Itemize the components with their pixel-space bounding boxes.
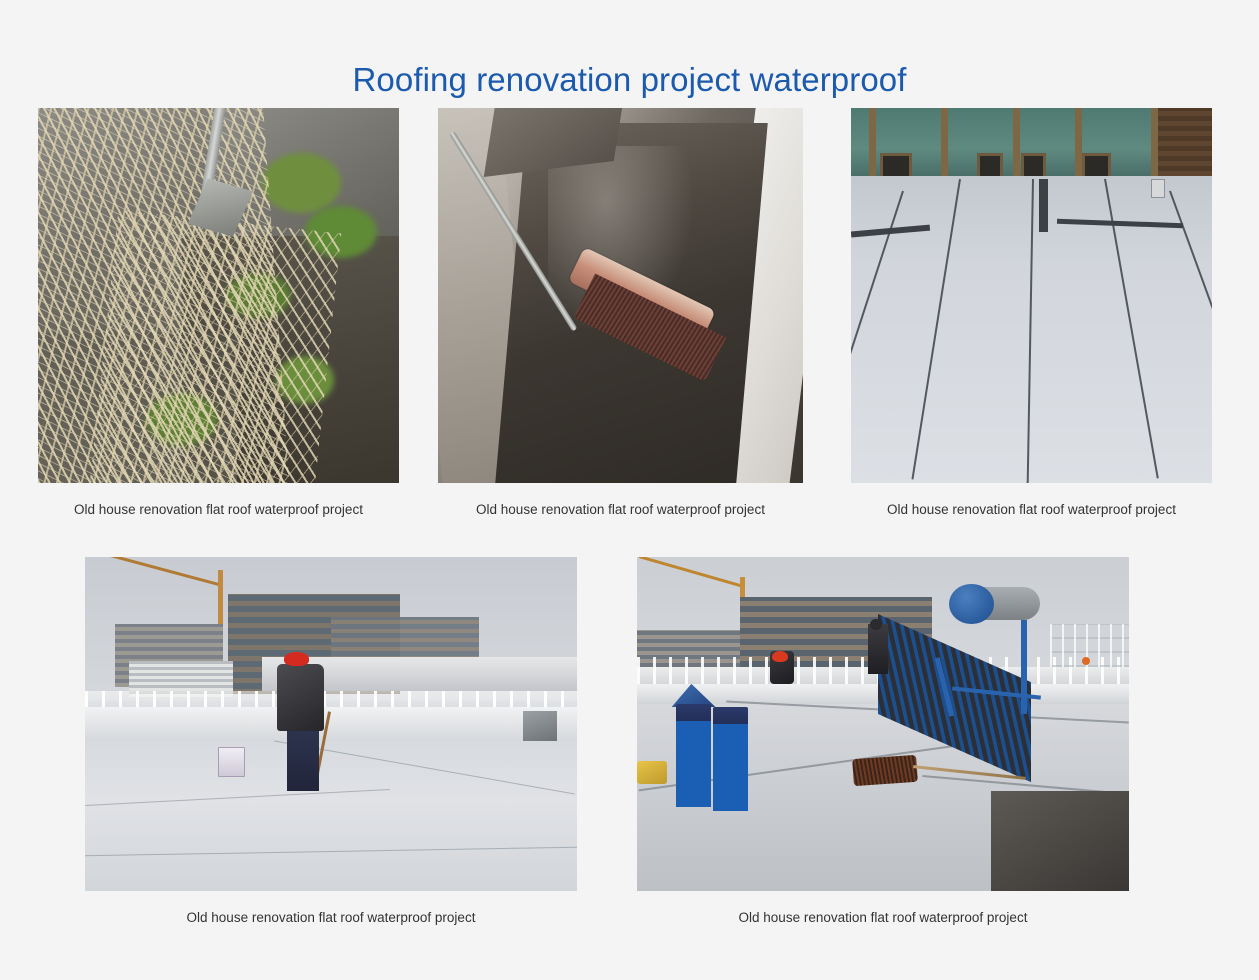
- photo-object-rooftop-unit: [523, 711, 557, 741]
- photo-object-coating-pail: [218, 747, 245, 777]
- gallery-item-caption: Old house renovation flat roof waterproo…: [887, 501, 1176, 519]
- photo-worker-applying-coating[interactable]: [85, 557, 577, 891]
- photo-object-red-helmet: [772, 651, 788, 663]
- page-title: Roofing renovation project waterproof: [0, 58, 1259, 102]
- photo-region-dry-grass: [89, 210, 341, 483]
- photo-region-uncoated-roof-edge: [991, 791, 1129, 891]
- photo-object-canopy-post: [869, 108, 876, 183]
- photo-roof-clearing-weeds[interactable]: [38, 108, 399, 483]
- photo-object-scaffold: [1050, 624, 1129, 667]
- photo-finished-white-membrane-roof[interactable]: [851, 108, 1212, 483]
- photo-object-worker-torso: [277, 664, 324, 731]
- photo-region-grass-patch: [262, 153, 341, 213]
- photo-object-worker-head: [870, 619, 882, 631]
- gallery-item-caption: Old house renovation flat roof waterproo…: [74, 501, 363, 519]
- gallery-item-caption: Old house renovation flat roof waterproo…: [739, 909, 1028, 927]
- photo-object-canopy-post: [1013, 108, 1020, 183]
- photo-object-broom-head: [853, 755, 919, 786]
- photo-object-worker-legs: [287, 724, 319, 791]
- photo-region-parapet: [85, 707, 577, 744]
- gallery-item-caption: Old house renovation flat roof waterproo…: [187, 909, 476, 927]
- gallery-item-caption: Old house renovation flat roof waterproo…: [476, 501, 765, 519]
- photo-region-coated-roof-deck: [85, 741, 577, 891]
- gallery-item-5[interactable]: Old house renovation flat roof waterproo…: [637, 557, 1129, 927]
- photo-object-bucket-label: [713, 724, 747, 811]
- gallery-item-3[interactable]: Old house renovation flat roof waterproo…: [851, 108, 1212, 519]
- photo-object-red-helmet: [284, 652, 309, 665]
- gallery-item-4[interactable]: Old house renovation flat roof waterproo…: [85, 557, 577, 927]
- photo-object-paint-bucket: [1151, 179, 1165, 198]
- photo-object-canopy-post: [1151, 108, 1158, 183]
- photo-object-canopy-post: [1075, 108, 1082, 183]
- gallery-item-2[interactable]: Old house renovation flat roof waterproo…: [438, 108, 803, 519]
- photo-region-wood-cladding: [1154, 108, 1212, 176]
- photo-object-worker-standing: [868, 624, 888, 674]
- photo-object-yellow-material: [637, 761, 667, 784]
- photo-object-canopy-post: [941, 108, 948, 183]
- photo-region-dark-expansion-joint: [1039, 179, 1048, 232]
- photo-object-orange-helmet: [1082, 657, 1090, 665]
- photo-object-bucket-label: [676, 721, 710, 808]
- gallery-item-1[interactable]: Old house renovation flat roof waterproo…: [38, 108, 399, 519]
- photo-object-solar-tank-endcap: [949, 584, 993, 624]
- photo-coating-application-broom[interactable]: [438, 108, 803, 483]
- photo-object-solar-frame-leg: [1021, 620, 1027, 714]
- photo-rooftop-solar-heater-worksite[interactable]: [637, 557, 1129, 891]
